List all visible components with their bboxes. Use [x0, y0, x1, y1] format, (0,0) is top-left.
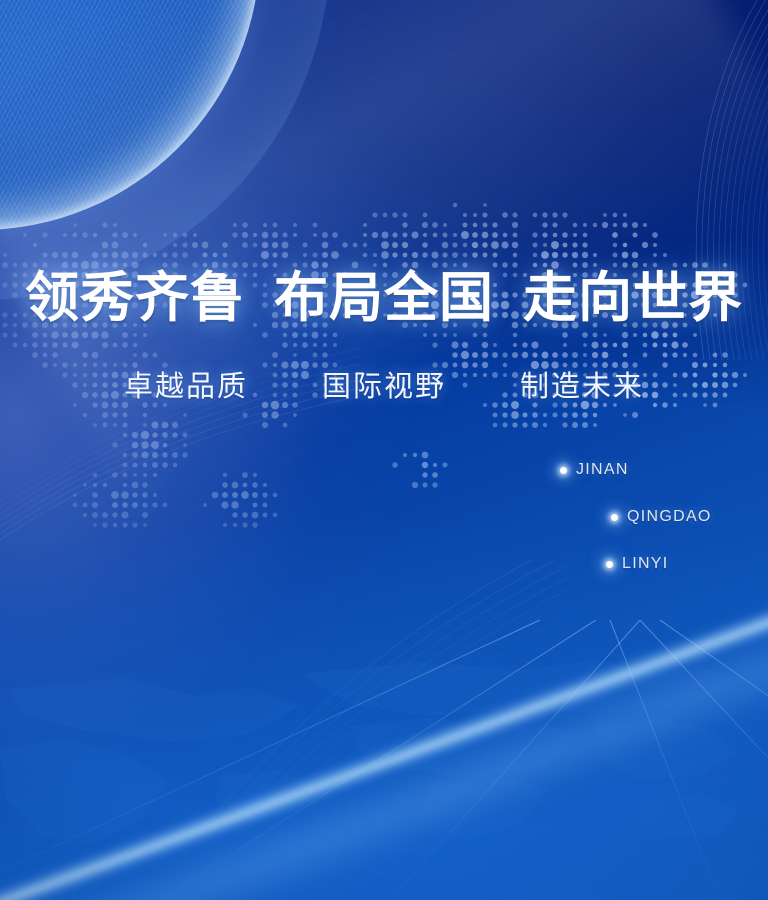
city-label: LINYI: [622, 555, 669, 573]
city-marker-jinan[interactable]: JINAN: [560, 461, 629, 479]
city-marker-linyi[interactable]: LINYI: [606, 555, 669, 573]
subheadline-text: 卓越品质 国际视野 制造未来: [0, 368, 768, 406]
city-label: QINGDAO: [627, 508, 712, 526]
city-dot-icon: [611, 514, 618, 521]
city-dot-icon: [606, 561, 613, 568]
headline-text: 领秀齐鲁 布局全国 走向世界: [0, 268, 768, 328]
city-label: JINAN: [576, 461, 629, 479]
city-marker-qingdao[interactable]: QINGDAO: [611, 508, 712, 526]
city-dot-icon: [560, 467, 567, 474]
banner-stage: 领秀齐鲁 布局全国 走向世界 卓越品质 国际视野 制造未来 JINAN QING…: [0, 0, 768, 900]
